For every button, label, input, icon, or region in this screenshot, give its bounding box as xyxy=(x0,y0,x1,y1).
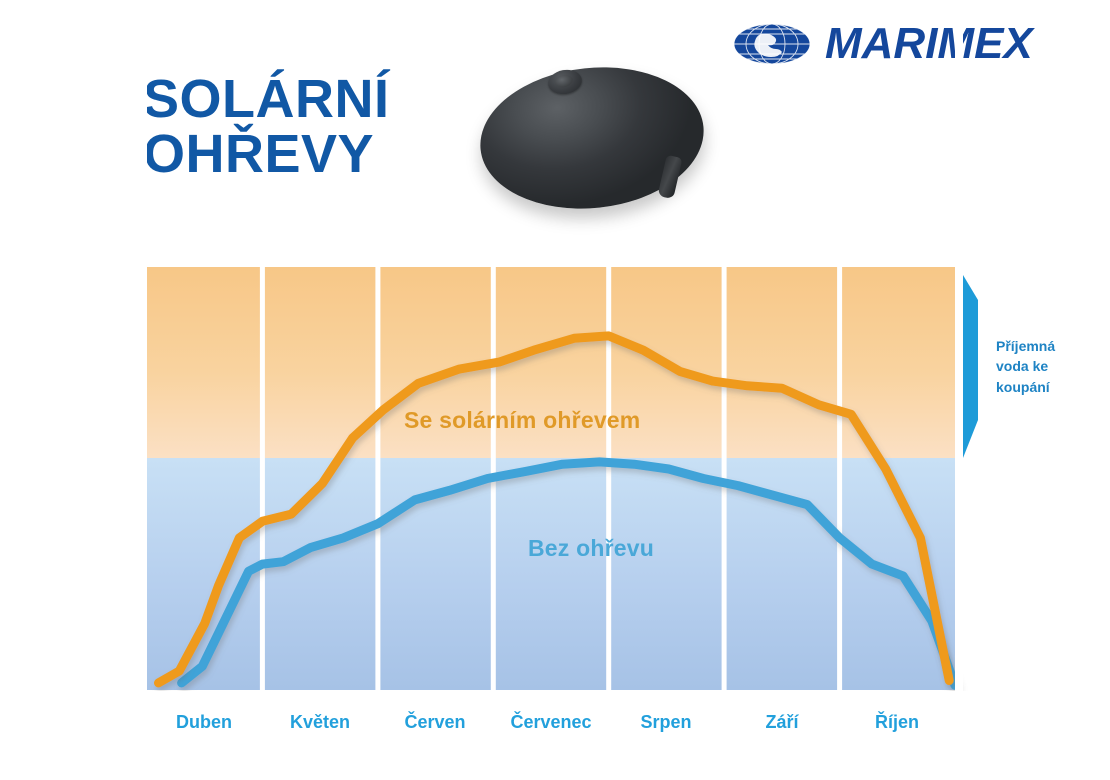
comfort-note-line-1: Příjemná xyxy=(996,336,1100,356)
series-label-se-solarnim-ohrevem: Se solárním ohřevem xyxy=(404,407,640,434)
plot-area xyxy=(0,0,1110,780)
temperature-chart: Teplota vody 30 °C 25 °C 20 °C 15 °C xyxy=(0,0,1110,780)
x-tick-rijen: Říjen xyxy=(827,712,967,733)
series-label-bez-ohrevu: Bez ohřevu xyxy=(528,535,654,562)
comfort-note-line-3: koupání xyxy=(996,377,1100,397)
comfort-note-line-2: voda ke xyxy=(996,356,1100,376)
comfort-annotation: Příjemná voda ke koupání xyxy=(996,336,1100,397)
comfort-arrow-icon xyxy=(963,275,978,458)
cool-band xyxy=(147,458,955,690)
